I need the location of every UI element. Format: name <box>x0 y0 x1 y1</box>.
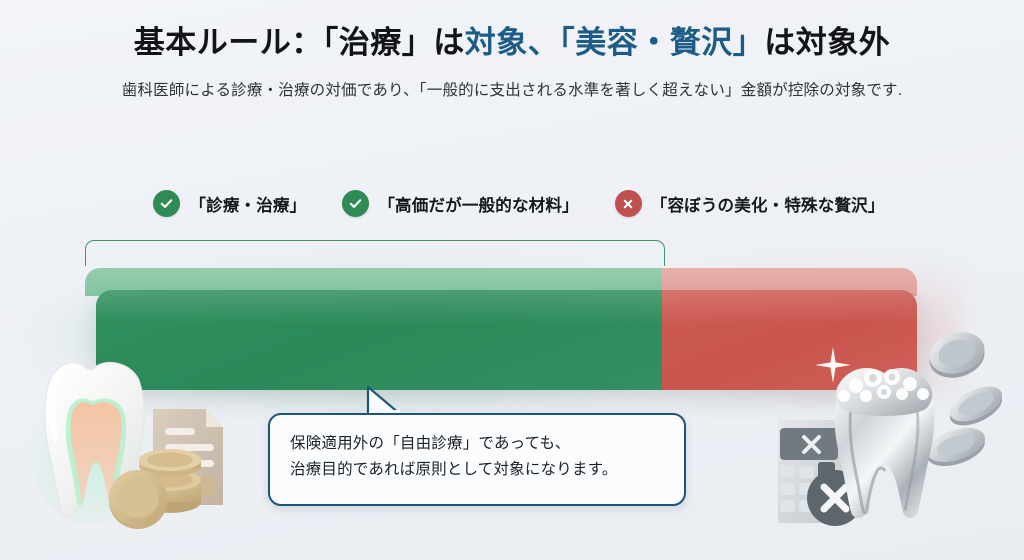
page-title: 基本ルール：「治療」は対象、「美容・贅沢」は対象外 <box>0 24 1024 63</box>
silver-coin-icon <box>945 379 1008 432</box>
page-header: 基本ルール：「治療」は対象、「美容・贅沢」は対象外 歯科医師による診療・治療の対… <box>0 0 1024 101</box>
bar-sheen <box>96 290 917 324</box>
callout-text: 保険適用外の「自由診療」であっても、 治療目的であれば原則として対象になります。 <box>290 431 670 482</box>
legend-row: 「診療・治療」 「高価だが一般的な材料」 「容ぼうの美化・特殊な贅沢」 <box>0 190 1024 217</box>
illustration-covered-treatment <box>22 352 254 537</box>
page-title-part1: 基本ルール：「治療」は <box>134 25 465 60</box>
callout-box: 保険適用外の「自由診療」であっても、 治療目的であれば原則として対象になります。 <box>268 413 686 506</box>
check-circle-icon <box>153 190 180 217</box>
callout-line-2: 治療目的であれば原則として対象になります。 <box>290 457 670 483</box>
check-circle-icon <box>342 190 369 217</box>
page-title-accent: 対象、「美容・贅沢」 <box>465 25 765 60</box>
page-subtitle: 歯科医師による診療・治療の対価であり、「一般的に支出される水準を著しく超えない」… <box>0 80 1024 102</box>
callout-line-1: 保険適用外の「自由診療」であっても、 <box>290 431 670 457</box>
callout-tail <box>366 385 402 415</box>
illustration-excluded-luxury <box>778 330 1024 535</box>
legend-item-treatment: 「診療・治療」 <box>153 190 306 217</box>
silver-coin-icon <box>925 330 990 384</box>
cross-circle-icon <box>615 190 642 217</box>
legend-item-cosmetic-luxury: 「容ぼうの美化・特殊な贅沢」 <box>615 190 885 217</box>
legend-item-expensive-material: 「高価だが一般的な材料」 <box>342 190 578 217</box>
legend-item-label: 「容ぼうの美化・特殊な贅沢」 <box>651 192 885 216</box>
legend-item-label: 「高価だが一般的な材料」 <box>378 192 578 216</box>
page-title-part2: は対象外 <box>764 25 890 60</box>
legend-item-label: 「診療・治療」 <box>189 192 306 216</box>
